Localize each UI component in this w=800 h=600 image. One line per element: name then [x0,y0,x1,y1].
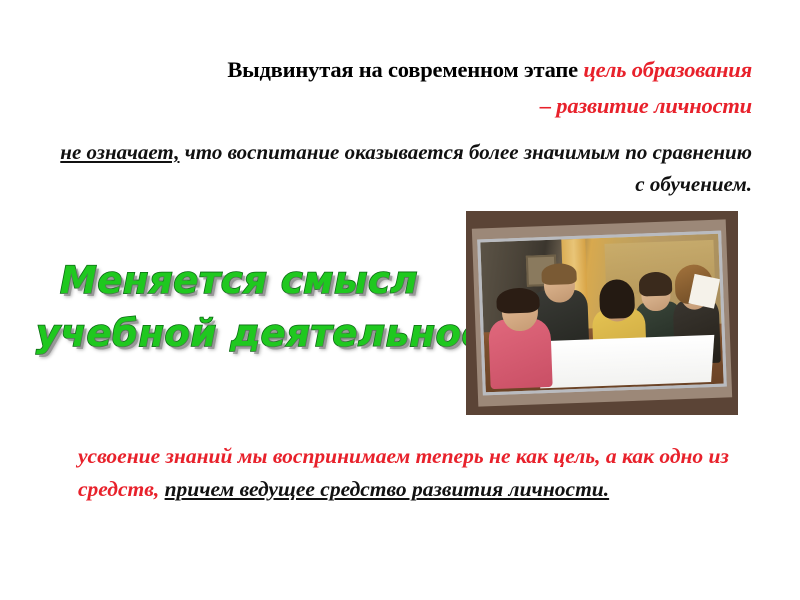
page-title: Выдвинутая на современном этапе цель обр… [60,52,752,124]
photo-students-working [477,231,727,396]
scene-person-standing-hair [541,263,577,285]
photo-frame [466,211,738,415]
subtitle-rest: что воспитание оказывается более значимы… [180,140,753,196]
subtitle-paragraph: не означает, что воспитание оказывается … [60,136,752,200]
wordart-heading: Меняется смысл учебной деятельности: [36,262,466,352]
title-red-segment-1: цель образования [583,57,752,82]
wordart-line-1: Меняется смысл [60,262,466,299]
subtitle-underlined-lead: не означает, [60,140,179,164]
wordart-line-2: учебной деятельности: [36,315,466,352]
scene-person-green-hair [639,271,673,296]
title-black-segment: Выдвинутая на современном этапе [227,57,578,82]
photo-scene [480,234,723,393]
bottom-underlined-text: причем ведущее средство развития личност… [165,477,610,501]
scene-person-writing-hair [598,279,635,319]
scene-person-pink-hair [496,287,540,314]
scene-large-paper [540,334,714,387]
bottom-paragraph: усвоение знаний мы воспринимаем теперь н… [78,440,738,506]
title-red-segment-2: – развитие личности [540,93,752,118]
